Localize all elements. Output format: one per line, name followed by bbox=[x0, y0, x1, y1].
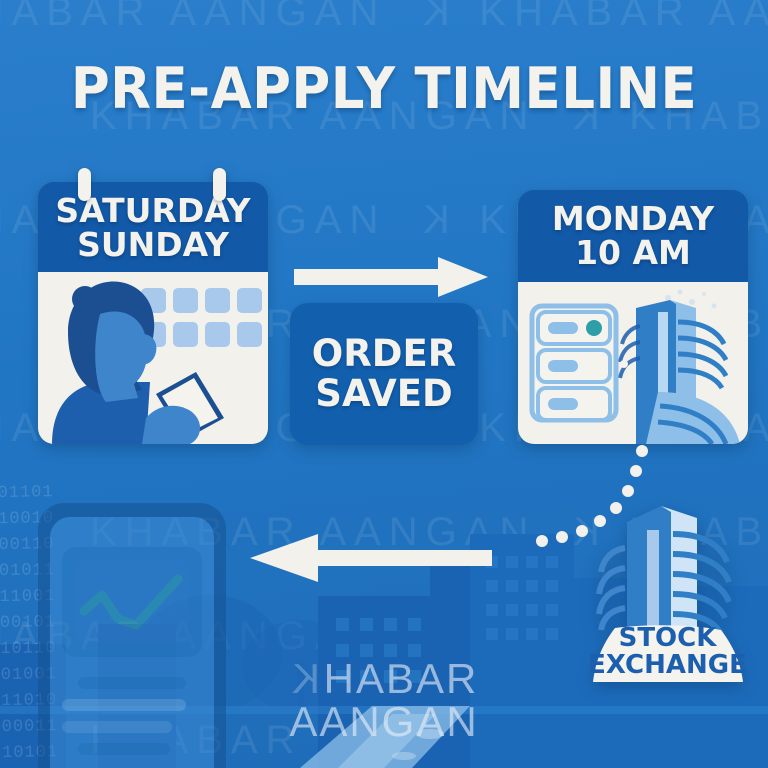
page-title: PRE-APPLY TIMELINE bbox=[27, 56, 741, 122]
monday-time-label: 10 AM bbox=[518, 236, 748, 270]
weekend-card-body bbox=[38, 272, 268, 444]
monday-day-label: MONDAY bbox=[518, 202, 748, 236]
order-saved-line2: SAVED bbox=[315, 374, 452, 414]
stock-exchange-label: STOCK EXCHANGE bbox=[575, 625, 760, 679]
phone-mockup-illustration bbox=[32, 495, 232, 768]
person-on-phone-icon bbox=[38, 272, 268, 444]
step-card-weekend[interactable]: SATURDAY SUNDAY bbox=[38, 182, 268, 444]
monday-card-header: MONDAY 10 AM bbox=[518, 190, 748, 282]
calendar-ring-right bbox=[213, 168, 226, 201]
poster-canvas: KHABAR AANGAN K KHABAR AANGAN KHABAR AAN… bbox=[0, 0, 768, 768]
weekend-card-header: SATURDAY SUNDAY bbox=[38, 182, 268, 272]
order-saved-line1: ORDER bbox=[312, 334, 456, 374]
server-and-exchange-icon bbox=[518, 282, 748, 444]
weekend-day-primary: SATURDAY bbox=[38, 194, 268, 228]
calendar-ring-left bbox=[78, 168, 91, 201]
step-card-monday[interactable]: MONDAY 10 AM bbox=[518, 190, 748, 444]
stock-exchange-line2: EXCHANGE bbox=[575, 652, 760, 679]
monday-card-body bbox=[518, 282, 748, 444]
stock-exchange-line1: STOCK bbox=[575, 625, 760, 652]
arrow-right-icon bbox=[294, 255, 490, 299]
order-saved-badge[interactable]: ORDER SAVED bbox=[290, 303, 478, 445]
arrow-left-icon bbox=[246, 530, 492, 586]
weekend-day-secondary: SUNDAY bbox=[38, 228, 268, 262]
